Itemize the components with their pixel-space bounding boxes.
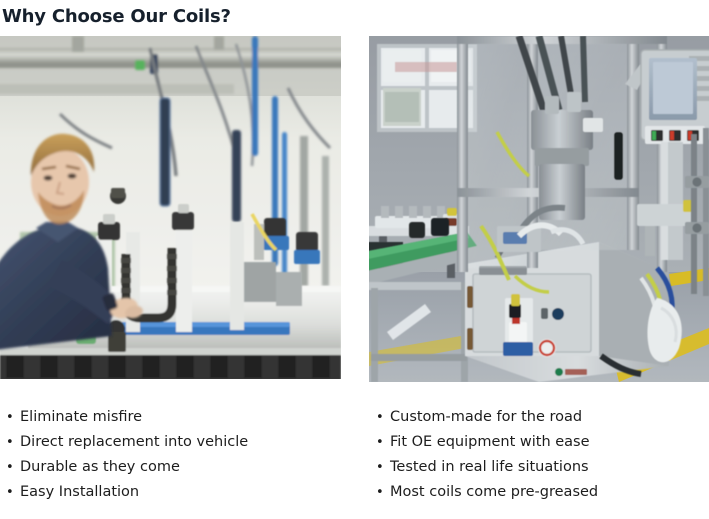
list-item: • Most coils come pre-greased [376,480,706,505]
list-item-label: Custom-made for the road [390,405,582,430]
bullet-icon: • [6,480,20,505]
list-item: • Custom-made for the road [376,405,706,430]
bullet-icon: • [376,455,390,480]
list-item: • Durable as they come [6,455,336,480]
bullet-icon: • [376,430,390,455]
photo-machine-artwork [369,36,709,382]
benefits-list-left: • Eliminate misfire • Direct replacement… [6,405,336,505]
photo-machine [369,36,709,382]
bullet-icon: • [376,480,390,505]
bullet-icon: • [6,405,20,430]
bullet-icon: • [376,405,390,430]
bullet-icon: • [6,430,20,455]
list-item: • Direct replacement into vehicle [6,430,336,455]
list-item-label: Direct replacement into vehicle [20,430,248,455]
bullet-icon: • [6,455,20,480]
list-item-label: Most coils come pre-greased [390,480,598,505]
benefits-list-right: • Custom-made for the road • Fit OE equi… [376,405,706,505]
list-item-label: Durable as they come [20,455,180,480]
list-item-label: Easy Installation [20,480,139,505]
list-item: • Fit OE equipment with ease [376,430,706,455]
list-item-label: Fit OE equipment with ease [390,430,590,455]
list-item: • Tested in real life situations [376,455,706,480]
list-item-label: Tested in real life situations [390,455,589,480]
photo-technician [0,36,341,379]
list-item: • Easy Installation [6,480,336,505]
page-title: Why Choose Our Coils? [2,6,231,28]
list-item-label: Eliminate misfire [20,405,142,430]
photo-technician-artwork [0,36,341,379]
list-item: • Eliminate misfire [6,405,336,430]
